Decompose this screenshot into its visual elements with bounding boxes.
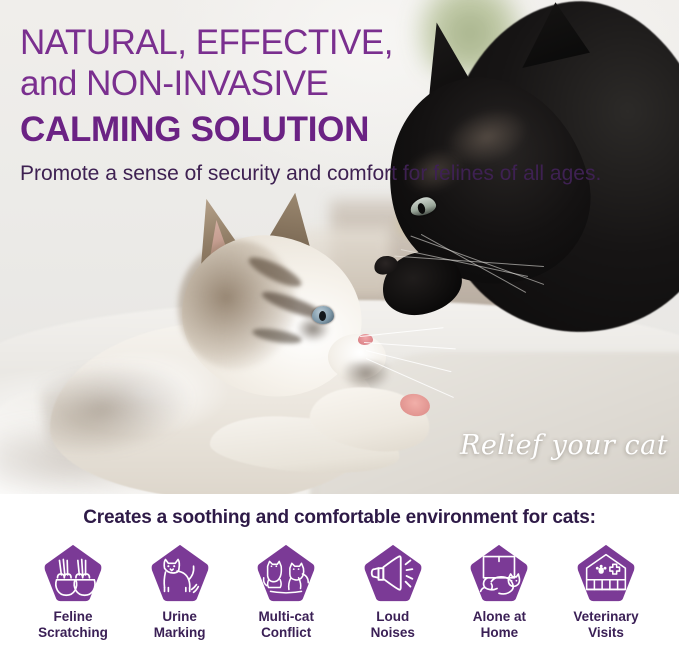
headline-line-1: NATURAL, EFFECTIVE, (20, 22, 450, 63)
subheadline: Promote a sense of security and comfort … (20, 160, 450, 187)
headline-line-2: and NON-INVASIVE (20, 63, 450, 104)
benefit-item-urine-marking[interactable]: Urine Marking (131, 543, 229, 642)
megaphone-loud-noise-icon (362, 543, 424, 603)
two-cats-conflict-icon (255, 543, 317, 603)
headline-line-3: CALMING SOLUTION (20, 109, 450, 151)
benefit-label: Multi-cat Conflict (258, 609, 314, 642)
benefit-label: Urine Marking (154, 609, 206, 642)
benefits-icon-row: Feline Scratching (0, 529, 679, 642)
headline-block: NATURAL, EFFECTIVE, and NON-INVASIVE CAL… (20, 22, 450, 187)
script-overlay-text: Relief your cat (460, 430, 668, 461)
benefit-label: Alone at Home (473, 609, 526, 642)
kitten (60, 212, 420, 492)
cat-alone-window-icon (468, 543, 530, 603)
benefit-item-veterinary-visits[interactable]: Veterinary Visits (557, 543, 655, 642)
cat-urine-marking-icon (149, 543, 211, 603)
kitten-pupil (319, 311, 326, 321)
benefit-item-alone-at-home[interactable]: Alone at Home (450, 543, 548, 642)
benefit-item-loud-noises[interactable]: Loud Noises (344, 543, 442, 642)
footer-title: Creates a soothing and comfortable envir… (0, 494, 679, 529)
vet-clinic-building-icon (575, 543, 637, 603)
hero-photo-banner: NATURAL, EFFECTIVE, and NON-INVASIVE CAL… (0, 0, 679, 494)
benefit-label: Veterinary Visits (573, 609, 638, 642)
benefit-item-multi-cat-conflict[interactable]: Multi-cat Conflict (237, 543, 335, 642)
benefit-item-feline-scratching[interactable]: Feline Scratching (24, 543, 122, 642)
cat-paws-scratching-icon (42, 543, 104, 603)
benefits-footer: Creates a soothing and comfortable envir… (0, 494, 679, 648)
benefit-label: Feline Scratching (38, 609, 108, 642)
benefit-label: Loud Noises (371, 609, 415, 642)
